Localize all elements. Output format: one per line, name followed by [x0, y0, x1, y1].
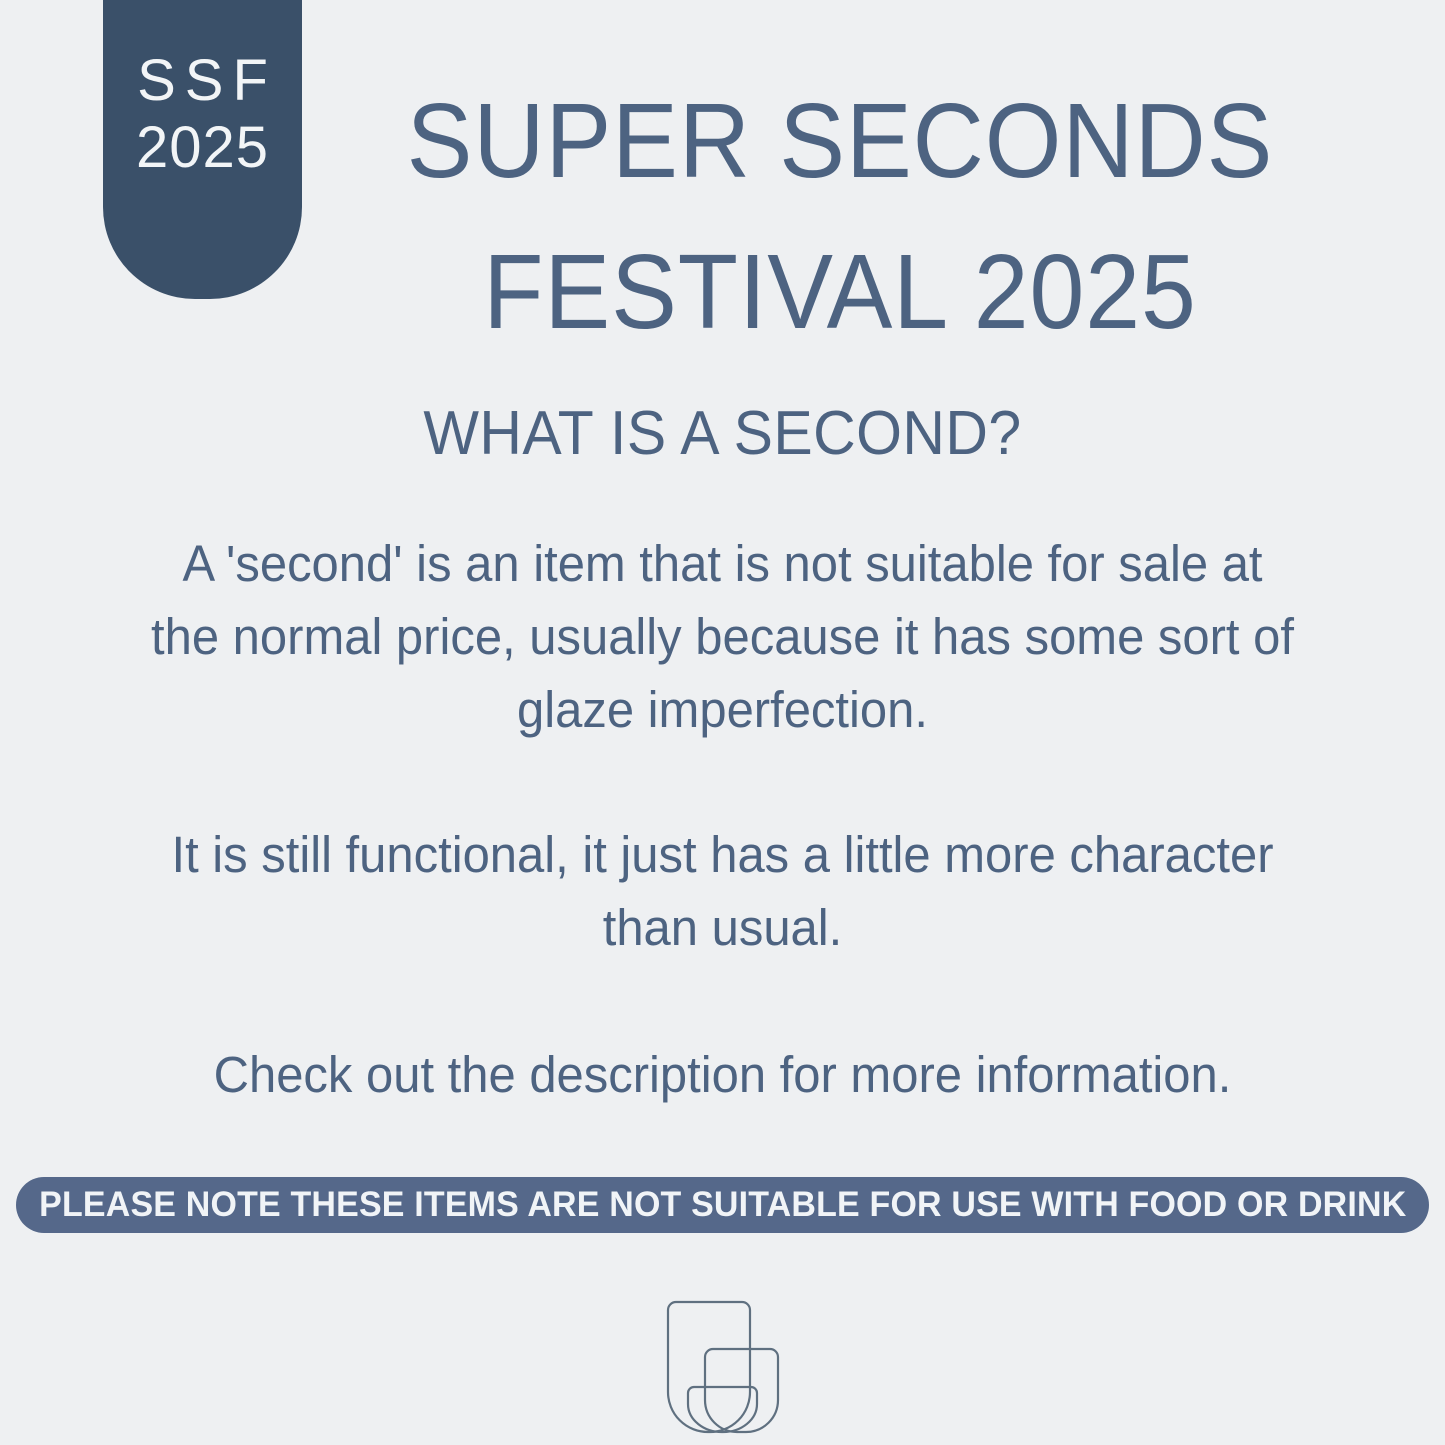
- poster-canvas: SSF 2025 SUPER SECONDS FESTIVAL 2025 WHA…: [0, 0, 1445, 1445]
- badge-initials: SSF: [128, 51, 277, 112]
- notice-banner: PLEASE NOTE THESE ITEMS ARE NOT SUITABLE…: [16, 1177, 1429, 1233]
- title-line-1: SUPER SECONDS: [366, 66, 1315, 217]
- body-paragraph-3: Check out the description for more infor…: [144, 1038, 1301, 1111]
- logo-tall-vase: [668, 1302, 750, 1432]
- pottery-vessels-logo-icon: [646, 1292, 801, 1440]
- body-paragraph-1: A 'second' is an item that is not suitab…: [144, 527, 1301, 746]
- body-paragraph-2: It is still functional, it just has a li…: [144, 818, 1301, 964]
- badge-year: 2025: [136, 112, 269, 185]
- title-line-2: FESTIVAL 2025: [366, 217, 1315, 368]
- ssf-badge: SSF 2025: [103, 0, 302, 299]
- poster-title: SUPER SECONDS FESTIVAL 2025: [330, 66, 1350, 367]
- pottery-vessels-logo-svg: [646, 1292, 801, 1440]
- section-heading: WHAT IS A SECOND?: [36, 398, 1409, 469]
- notice-banner-text: PLEASE NOTE THESE ITEMS ARE NOT SUITABLE…: [39, 1185, 1406, 1225]
- logo-medium-vessel: [705, 1349, 778, 1432]
